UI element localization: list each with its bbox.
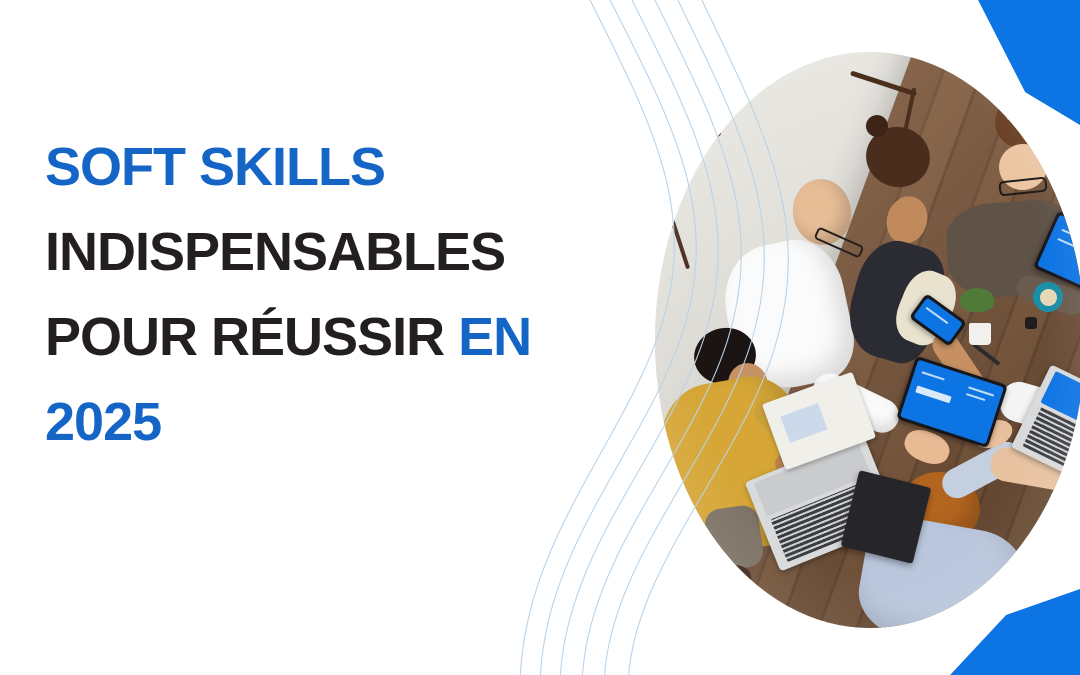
headline-line-3-accent: EN [458,307,531,367]
headline-line-3-main: POUR RÉUSSIR [45,307,444,367]
headline-line-2: INDISPENSABLES [45,225,645,279]
headline-line-4: 2025 [45,395,645,449]
photo-content [655,52,1080,628]
headline-line-3: POUR RÉUSSIR EN [45,310,645,364]
banner-root: SOFT SKILLS INDISPENSABLES POUR RÉUSSIR … [0,0,1080,675]
headline-block: SOFT SKILLS INDISPENSABLES POUR RÉUSSIR … [45,140,645,449]
plant-leaves [960,288,994,312]
person-woman-bun [866,115,888,137]
person-yellow-trousers [703,504,765,573]
meeting-photo [655,52,1080,628]
plant-pot [969,323,991,345]
headline-line-1: SOFT SKILLS [45,140,645,194]
wristwatch [1025,317,1037,329]
